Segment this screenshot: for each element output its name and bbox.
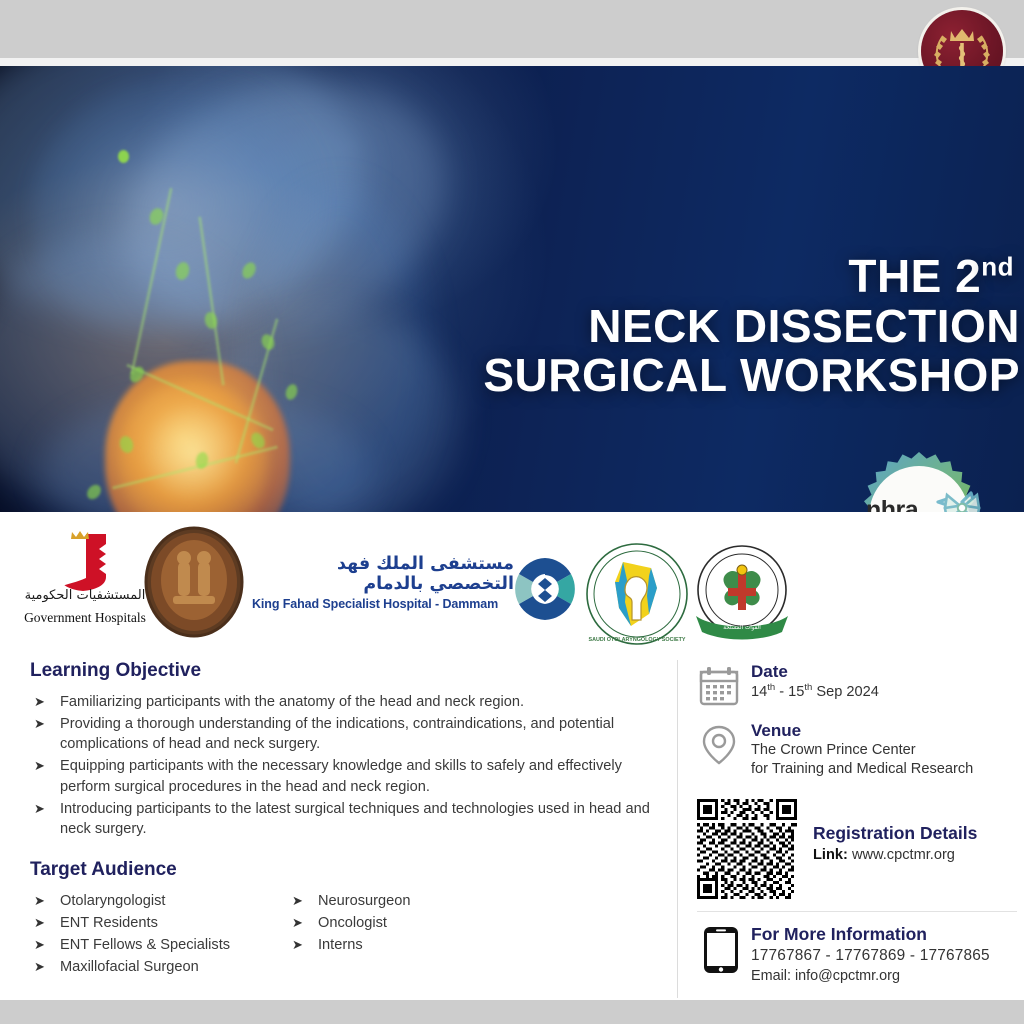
arrow-bullet-icon: ➤	[34, 757, 45, 775]
learning-objective-heading: Learning Objective	[30, 660, 660, 682]
hero-title: THE 2nd NECK DISSECTION SURGICAL WORKSHO…	[330, 252, 1020, 401]
bottom-grey-band	[0, 1000, 1024, 1024]
qr-code[interactable]	[697, 799, 797, 899]
logo-king-fahad-specialist-hospital: مستشفى الملك فهد التخصصي بالدمام King Fa…	[252, 554, 514, 611]
arrow-bullet-icon: ➤	[292, 936, 303, 954]
logo-government-hospitals: المستشفيات الحكومية Government Hospitals	[20, 530, 150, 634]
hero-image: THE 2nd NECK DISSECTION SURGICAL WORKSHO…	[0, 66, 1024, 512]
arrow-bullet-icon: ➤	[34, 715, 45, 733]
list-item: ➤Providing a thorough understanding of t…	[30, 714, 660, 754]
venue-block: Venue The Crown Prince Center for Traini…	[697, 721, 1017, 778]
logo-saudi-otolaryngology-society: SAUDI OTOLARYNGOLOGY SOCIETY	[585, 542, 689, 646]
title-line-3: SURGICAL WORKSHOP	[330, 351, 1020, 401]
target-audience-column-2: ➤Neurosurgeon ➤Oncologist ➤Interns	[288, 891, 548, 980]
location-pin-icon	[697, 723, 741, 767]
kfsh-english: King Fahad Specialist Hospital - Dammam	[252, 597, 514, 611]
arrow-bullet-icon: ➤	[292, 914, 303, 932]
venue-label: Venue	[751, 721, 1017, 741]
lymph-node	[259, 332, 276, 351]
section-divider	[697, 911, 1017, 912]
list-item: ➤Oncologist	[288, 913, 548, 933]
venue-line-2: for Training and Medical Research	[751, 760, 1017, 779]
registration-link[interactable]: Link: www.cpctmr.org	[813, 847, 977, 863]
arrow-bullet-icon: ➤	[34, 914, 45, 932]
gov-hospitals-english: Government Hospitals	[20, 610, 150, 626]
kfsh-arabic: مستشفى الملك فهد التخصصي بالدمام	[252, 554, 514, 594]
arrow-bullet-icon: ➤	[292, 892, 303, 910]
gov-hospitals-arabic: المستشفيات الحكومية	[20, 588, 150, 603]
sponsor-logo-strip: المستشفيات الحكومية Government Hospitals	[0, 512, 1024, 648]
title-line-1: THE 2nd	[330, 252, 1020, 302]
logo-american-college-of-surgeons	[140, 526, 248, 638]
arrow-bullet-icon: ➤	[34, 958, 45, 976]
list-item: ➤Introducing participants to the latest …	[30, 799, 660, 839]
poster-root: THE 2nd NECK DISSECTION SURGICAL WORKSHO…	[0, 0, 1024, 1024]
list-item: ➤Neurosurgeon	[288, 891, 548, 911]
calendar-icon	[697, 664, 741, 708]
lymph-node	[284, 383, 299, 402]
lymph-node	[118, 150, 129, 163]
list-item: ➤Familiarizing participants with the ana…	[30, 692, 660, 712]
left-column: Learning Objective ➤Familiarizing partic…	[30, 660, 660, 979]
svg-text:القوات المسلحة: القوات المسلحة	[723, 625, 761, 631]
list-item: ➤ENT Fellows & Specialists	[30, 935, 288, 955]
mobile-phone-icon	[703, 926, 739, 974]
date-value: 14th - 15th Sep 2024	[751, 682, 1017, 702]
list-item: ➤Interns	[288, 935, 548, 955]
target-audience-heading: Target Audience	[30, 859, 660, 881]
date-block: Date 14th - 15th Sep 2024	[697, 662, 1017, 701]
registration-block: Registration Details Link: www.cpctmr.or…	[697, 799, 1017, 903]
registration-label: Registration Details	[813, 823, 977, 844]
lymph-node	[84, 482, 103, 502]
poster-body: المستشفيات الحكومية Government Hospitals	[0, 512, 1024, 1000]
contact-email[interactable]: Email: info@cpctmr.org	[751, 968, 1017, 984]
contact-phone-numbers: 17767867 - 17767869 - 17767865	[751, 947, 1017, 965]
learning-objective-list: ➤Familiarizing participants with the ana…	[30, 692, 660, 839]
svg-text:SAUDI OTOLARYNGOLOGY SOCIETY: SAUDI OTOLARYNGOLOGY SOCIETY	[589, 637, 686, 643]
registration-text: Registration Details Link: www.cpctmr.or…	[813, 823, 977, 863]
title-line-2: NECK DISSECTION	[330, 302, 1020, 352]
contact-label: For More Information	[751, 924, 1017, 945]
top-grey-band	[0, 0, 1024, 58]
arrow-bullet-icon: ➤	[34, 936, 45, 954]
date-label: Date	[751, 662, 1017, 682]
list-item: ➤Equipping participants with the necessa…	[30, 756, 660, 796]
list-item: ➤ENT Residents	[30, 913, 288, 933]
venue-line-1: The Crown Prince Center	[751, 741, 1017, 760]
list-item: ➤Otolaryngologist	[30, 891, 288, 911]
arrow-bullet-icon: ➤	[34, 693, 45, 711]
top-white-gap	[0, 58, 1024, 66]
arrow-bullet-icon: ➤	[34, 892, 45, 910]
logo-king-fahad-military-medical-complex: القوات المسلحة	[688, 540, 796, 648]
list-item: ➤Maxillofacial Surgeon	[30, 957, 288, 977]
right-column: Date 14th - 15th Sep 2024 Venue The Crow…	[697, 662, 1017, 984]
target-audience-column-1: ➤Otolaryngologist ➤ENT Residents ➤ENT Fe…	[30, 891, 288, 980]
arrow-bullet-icon: ➤	[34, 800, 45, 818]
contact-block: For More Information 17767867 - 17767869…	[697, 924, 1017, 984]
logo-cpc-center	[508, 552, 582, 626]
target-audience-section: Target Audience ➤Otolaryngologist ➤ENT R…	[30, 859, 660, 980]
column-divider	[677, 660, 678, 998]
skull-xray-shape	[13, 66, 348, 364]
